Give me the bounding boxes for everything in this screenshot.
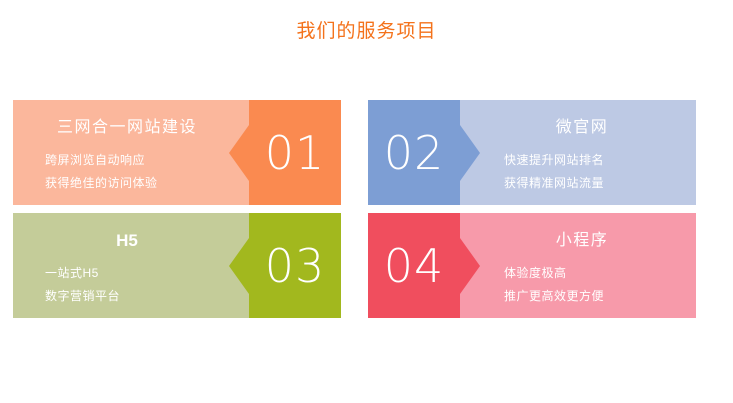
card-content: 小程序 体验度极高 推广更高效更方便 xyxy=(468,213,696,318)
card-title: 小程序 xyxy=(468,230,696,252)
card-subtitle-line-2: 获得绝佳的访问体验 xyxy=(45,175,215,191)
card-content: 微官网 快速提升网站排名 获得精准网站流量 xyxy=(468,100,696,205)
service-items-page: 我们的服务项目 01 三网合一网站建设 跨屏浏览自动响应 获得绝佳的访问体验 0… xyxy=(0,0,733,403)
card-number-block: 02 xyxy=(368,100,460,205)
card-number: 01 xyxy=(249,100,341,205)
card-subtitle-line-2: 获得精准网站流量 xyxy=(504,175,674,191)
card-number: 02 xyxy=(368,100,460,205)
card-subtitle-line-2: 推广更高效更方便 xyxy=(504,288,674,304)
card-subtitle-line-2: 数字营销平台 xyxy=(45,288,215,304)
service-card-grid: 01 三网合一网站建设 跨屏浏览自动响应 获得绝佳的访问体验 02 微官网 快速… xyxy=(13,100,720,318)
card-subtitle-line-1: 快速提升网站排名 xyxy=(504,152,674,168)
card-content: 三网合一网站建设 跨屏浏览自动响应 获得绝佳的访问体验 xyxy=(13,100,241,205)
service-card-03[interactable]: 03 H5 一站式H5 数字营销平台 xyxy=(13,213,341,318)
card-number-block: 01 xyxy=(249,100,341,205)
card-content: H5 一站式H5 数字营销平台 xyxy=(13,213,241,318)
card-number: 04 xyxy=(368,213,460,318)
service-card-02[interactable]: 02 微官网 快速提升网站排名 获得精准网站流量 xyxy=(368,100,696,205)
card-number: 03 xyxy=(249,213,341,318)
service-card-04[interactable]: 04 小程序 体验度极高 推广更高效更方便 xyxy=(368,213,696,318)
card-subtitle-line-1: 跨屏浏览自动响应 xyxy=(45,152,215,168)
service-card-01[interactable]: 01 三网合一网站建设 跨屏浏览自动响应 获得绝佳的访问体验 xyxy=(13,100,341,205)
card-subtitle-line-1: 体验度极高 xyxy=(504,265,674,281)
card-number-block: 03 xyxy=(249,213,341,318)
card-title: H5 xyxy=(13,230,241,252)
page-title: 我们的服务项目 xyxy=(0,19,733,45)
card-number-block: 04 xyxy=(368,213,460,318)
card-subtitle-line-1: 一站式H5 xyxy=(45,265,215,281)
card-title: 三网合一网站建设 xyxy=(13,117,241,139)
card-title: 微官网 xyxy=(468,117,696,139)
